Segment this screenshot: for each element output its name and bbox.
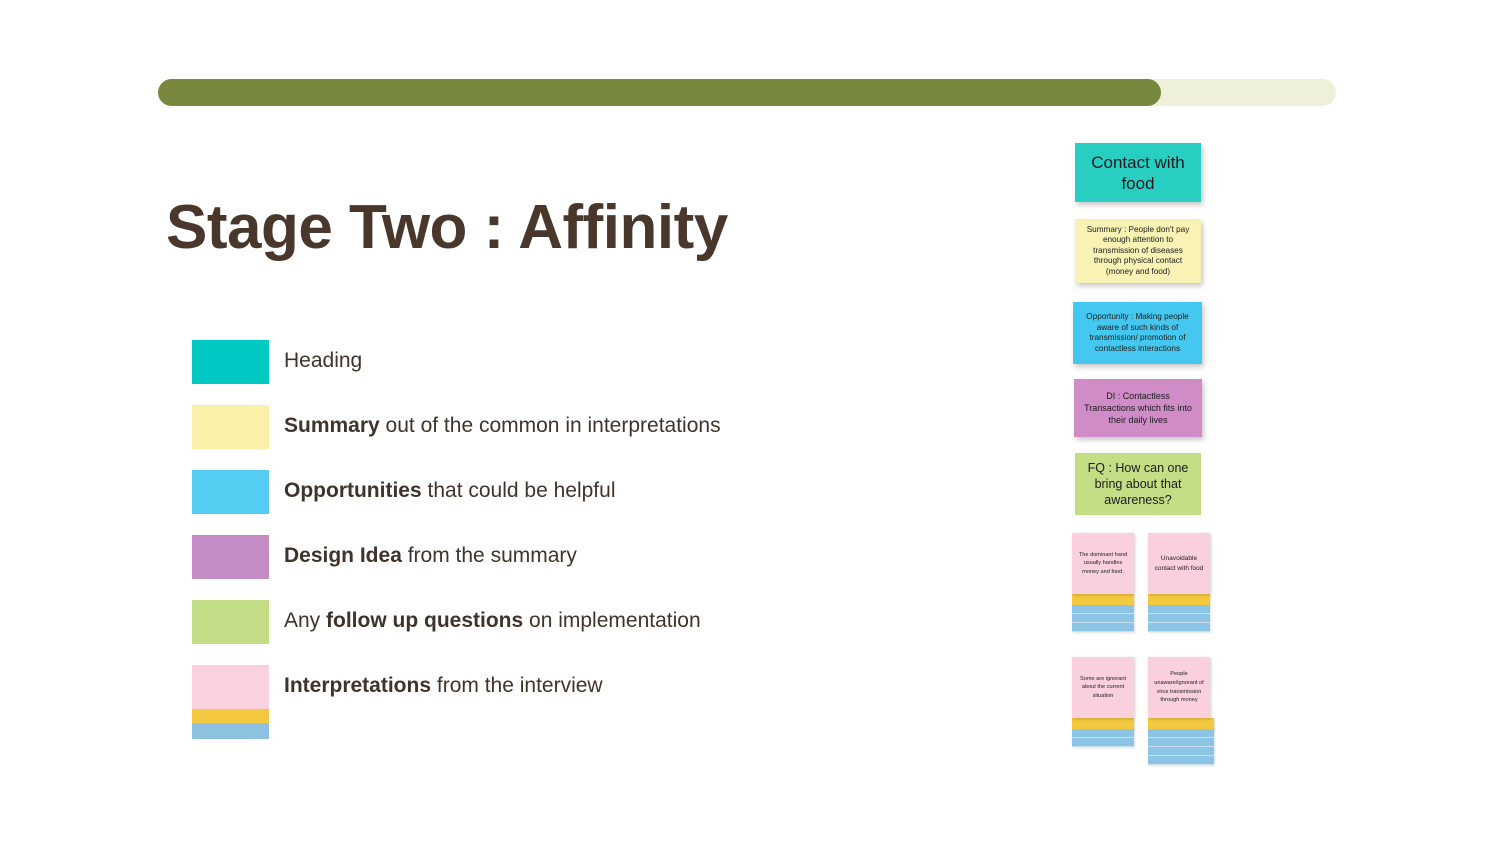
legend-swatch-opportunities (192, 470, 269, 514)
legend-text-plain: from the summary (402, 544, 577, 567)
stack-layer-yellow (1072, 718, 1134, 729)
stack-layer-blue (1072, 614, 1134, 623)
sticky-note-stack: Some are ignorant about the current situ… (1072, 657, 1134, 747)
stack-layer-blue (1148, 756, 1214, 765)
legend-label-design-idea: Design Idea from the summary (284, 541, 577, 571)
slide-canvas: Stage Two : Affinity Heading Summary out… (0, 0, 1500, 844)
sticky-note-interpretation: People unaware/ignorant of virus transmi… (1148, 657, 1210, 718)
stack-layer-yellow (1148, 594, 1210, 605)
legend-item-summary: Summary out of the common in interpretat… (192, 405, 892, 470)
legend-swatch-interpretations (192, 665, 269, 709)
sticky-note-follow-up-question: FQ : How can one bring about that awaren… (1075, 453, 1201, 515)
legend-item-follow-up-questions: Any follow up questions on implementatio… (192, 600, 892, 665)
stack-layer-blue (1072, 623, 1134, 632)
progress-bar-track (158, 79, 1336, 106)
legend-text-bold: Interpretations (284, 674, 431, 697)
sticky-note-interpretation: Some are ignorant about the current situ… (1072, 657, 1134, 718)
legend-text-plain: Heading (284, 349, 362, 372)
legend-swatch-design-idea (192, 535, 269, 579)
legend-label-summary: Summary out of the common in interpretat… (284, 411, 721, 441)
stack-layer-blue (1148, 738, 1214, 747)
legend-label-opportunities: Opportunities that could be helpful (284, 476, 615, 506)
legend-label-follow-up-questions: Any follow up questions on implementatio… (284, 606, 701, 636)
sticky-note-stack: People unaware/ignorant of virus transmi… (1148, 657, 1210, 765)
legend-text-plain: from the interview (431, 674, 603, 697)
stack-layer-blue (1072, 729, 1134, 738)
legend-label-interpretations: Interpretations from the interview (284, 671, 603, 701)
stack-layer-blue (1148, 614, 1210, 623)
legend-swatch-heading (192, 340, 269, 384)
legend-text-plain: on implementation (523, 609, 700, 632)
stack-layer-blue (1148, 605, 1210, 614)
stack-layer-yellow (1072, 594, 1134, 605)
legend-strip-blue (192, 723, 269, 739)
legend-item-opportunities: Opportunities that could be helpful (192, 470, 892, 535)
legend-swatch-follow-up-questions (192, 600, 269, 644)
legend-item-interpretations: Interpretations from the interview (192, 665, 892, 730)
sticky-note-interpretation: Unavoidable contact with food (1148, 533, 1210, 594)
legend-label-heading: Heading (284, 346, 362, 376)
legend-text-bold: Design Idea (284, 544, 402, 567)
legend-text-plain: out of the common in interpretations (380, 414, 721, 437)
sticky-note-interpretation: The dominant hand usually handles money … (1072, 533, 1134, 594)
sticky-note-design-idea: DI : Contactless Transactions which fits… (1074, 379, 1202, 437)
stack-layer-yellow (1148, 718, 1214, 729)
stack-layer-blue (1072, 738, 1134, 747)
sticky-note-opportunity: Opportunity : Making people aware of suc… (1073, 302, 1202, 364)
sticky-note-heading: Contact with food (1075, 143, 1201, 202)
stack-layer-blue (1148, 623, 1210, 632)
legend-swatch-summary (192, 405, 269, 449)
page-title: Stage Two : Affinity (166, 192, 728, 263)
sticky-note-stack: Unavoidable contact with food (1148, 533, 1210, 632)
legend-text-bold: Summary (284, 414, 380, 437)
stack-layer-blue (1072, 605, 1134, 614)
sticky-note-column: Contact with food Summary : People don't… (1060, 130, 1260, 780)
legend-strip-yellow (192, 709, 269, 723)
legend-list: Heading Summary out of the common in int… (192, 340, 892, 730)
stack-layer-blue (1148, 747, 1214, 756)
stack-layer-blue (1148, 729, 1214, 738)
legend-text-bold: Opportunities (284, 479, 422, 502)
legend-text-bold: follow up questions (326, 609, 523, 632)
progress-bar-fill (158, 79, 1161, 106)
legend-item-heading: Heading (192, 340, 892, 405)
sticky-note-summary: Summary : People don't pay enough attent… (1075, 219, 1201, 283)
legend-text-plain: that could be helpful (422, 479, 616, 502)
legend-text-prefix: Any (284, 609, 326, 632)
sticky-note-stack: The dominant hand usually handles money … (1072, 533, 1134, 632)
legend-item-design-idea: Design Idea from the summary (192, 535, 892, 600)
